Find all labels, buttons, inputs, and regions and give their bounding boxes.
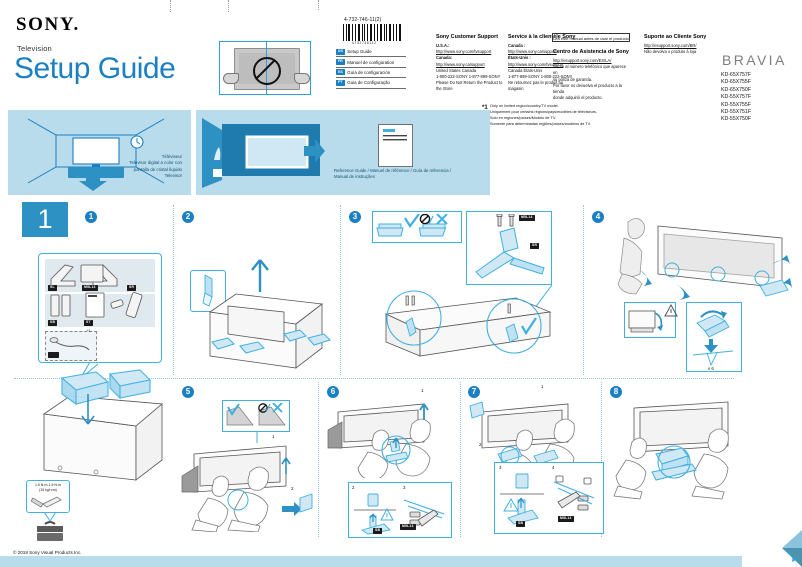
footnote-line: Somente para determinadas regiões/países… (490, 122, 597, 128)
substep-6: 6 (327, 386, 339, 398)
support-pt-title: Suporte ao Cliente Sony (644, 33, 716, 41)
parts-icons (45, 259, 155, 327)
model-number: KD-55X755F (721, 102, 751, 109)
leg-code-label-step3: SR (530, 243, 539, 249)
language-label: Guia de Configuração (347, 80, 390, 85)
optional-part-footnote-ref: *1 (87, 329, 90, 333)
model-number: KD-65X750F (721, 87, 751, 94)
support-es-line: donde adquirió el producto. (553, 95, 631, 101)
substep-4: 4 (592, 211, 604, 223)
substep3-tv-back-illustration (366, 270, 566, 370)
carton-open-illustration (36, 368, 166, 486)
part-code-cable (48, 352, 59, 358)
hand-right-icon (294, 73, 310, 84)
handling-caution-illustration (219, 41, 311, 95)
part-code-sr: SR (127, 285, 136, 291)
substep6-inner-num-1: 1 (421, 388, 423, 393)
support-us-title: Sony Customer Support (436, 33, 504, 41)
torque-value: 1.5 N·m-1.5 N·m (15 kgf·cm) (28, 483, 68, 492)
screwdriver-icon (31, 494, 65, 510)
substep2-carton-illustration (188, 250, 336, 375)
support-us-note: Please Do Not Return the Product to the … (436, 80, 504, 92)
language-label: Setup Guide (347, 49, 371, 54)
barcode-number: 4732746112 (352, 41, 377, 45)
support-pt: Suporte ao Cliente Sony http://esupport.… (644, 33, 716, 55)
substep3-check-graphics (375, 214, 459, 240)
support-us: Sony Customer Support U.S.A.: http://www… (436, 33, 504, 92)
divider-vertical-1 (173, 205, 174, 375)
model-number: KD-55X751F (721, 109, 751, 116)
sony-logo-dot: . (73, 14, 79, 35)
quantity-x6-label: x 6 (708, 366, 714, 371)
substep8-final-illustration (612, 398, 752, 508)
document-scene-illustration (202, 114, 320, 192)
substep5-check-graphics (225, 403, 287, 429)
reference-guide-booklet (378, 124, 414, 168)
substep4-leg-fold-detail (689, 305, 739, 369)
torque-callout-tail (42, 512, 58, 522)
barcode (343, 24, 403, 41)
model-number: KD-55X757F (721, 94, 751, 101)
support-es-line: Por favor no devuelva el producto a la t… (553, 83, 631, 95)
base-code-step6: SB (373, 528, 382, 534)
footnote-line: Uniquement pour certains régions/pays/mo… (490, 110, 597, 116)
substep-8: 8 (610, 386, 622, 398)
base-code-step7: SB (516, 521, 525, 527)
tv-caption: Téléviseur Televisor digital a color con… (56, 154, 182, 180)
language-row: US Setup Guide (336, 47, 406, 57)
substep-2: 2 (182, 211, 194, 223)
substep4-standing-tv-illustration (612, 212, 792, 307)
language-row: PT Guia de Configuração (336, 78, 406, 88)
support-pt-note: Não devolva o produto à loja (644, 49, 716, 55)
language-code: ES (336, 69, 345, 75)
divider-vertical-2 (340, 205, 341, 375)
language-code: PT (336, 80, 345, 86)
language-row: ES Guía de configuración (336, 68, 406, 78)
screw-code-step7: M5L14 (558, 516, 574, 522)
model-number: KD-55X750F (721, 116, 751, 123)
substep7-inner-num-2: 2 (479, 442, 481, 447)
part-code-sb: SB (48, 320, 57, 326)
substep-3: 3 (349, 211, 361, 223)
warning-triangle-step7 (503, 498, 519, 512)
language-code: FR (336, 59, 345, 65)
part-number: 4-732-746-11(2) (344, 17, 381, 23)
sony-logo: SONY. (16, 14, 80, 36)
support-es-line: Llame al número telefónico que aparece e… (553, 64, 631, 76)
footnote: *1 Only on limited region/country/TV mod… (490, 104, 597, 128)
language-list: US Setup Guide FR Manuel de configuratio… (336, 47, 406, 89)
crop-mark-top-left (170, 0, 171, 12)
sony-wordmark: SONY (16, 14, 73, 35)
model-number: KD-65X757F (721, 72, 751, 79)
right-arrow-docs (304, 138, 326, 164)
page-title: Setup Guide (14, 52, 175, 86)
substep-5: 5 (182, 386, 194, 398)
hand-left-icon (223, 73, 239, 84)
substep6-lifting-illustration (326, 398, 451, 478)
support-es: Centro de Asistencia de Sony http://esup… (553, 48, 631, 101)
model-list: KD-65X757F KD-65X755F KD-65X750F KD-55X7… (721, 72, 751, 124)
part-code-st: ST (84, 320, 93, 326)
divider-vertical-3 (583, 205, 584, 375)
reference-guide-caption: Reference Guide / Manuel de référence / … (334, 168, 484, 180)
no-touch-icon (253, 57, 281, 85)
step-number-badge: 1 (22, 202, 68, 237)
language-row: FR Manuel de configuration (336, 57, 406, 67)
screw-code-label-step3: M5L14 (519, 215, 535, 221)
screw-code-step6: M5L14 (400, 524, 416, 530)
substep6-inner-num-3: 3 (403, 485, 405, 490)
substep5-inner-num-1: 1 (272, 434, 274, 439)
substep7-inner-num-3: 3 (499, 465, 501, 470)
substep-1: 1 (85, 211, 97, 223)
setup-guide-page: SONY. Television Setup Guide 4-732-746-1… (0, 0, 802, 567)
copyright-text: © 2018 Sony Visual Products Inc. (13, 550, 81, 555)
language-code: US (336, 49, 345, 55)
part-code-sl: SL (48, 285, 57, 291)
substep7-inner-num-4: 4 (552, 465, 554, 470)
divider-vertical-5 (460, 382, 461, 537)
language-label: Manuel de configuration (347, 60, 394, 65)
crop-mark-top-right (318, 0, 319, 10)
toolbox-icon (36, 520, 64, 542)
substep-7: 7 (468, 386, 480, 398)
bottom-bar (0, 556, 802, 567)
part-code-m5l14: M5L14 (82, 285, 98, 291)
spanish-notice-box: Lea este manual antes de usar el product… (552, 33, 630, 42)
support-es-title: Centro de Asistencia de Sony (553, 48, 631, 56)
warning-triangle-step6 (380, 508, 394, 521)
model-number: KD-65X755F (721, 79, 751, 86)
cable-icon (49, 336, 91, 352)
language-label: Guía de configuración (347, 70, 390, 75)
warning-triangle-step4 (664, 304, 678, 317)
page-turn-corner (742, 530, 802, 567)
substep6-inner-num-2: 2 (352, 485, 354, 490)
crop-mark-top-mid (228, 0, 229, 12)
divider-vertical-4 (318, 382, 319, 537)
bravia-wordmark: BRAVIA (722, 52, 787, 68)
substep7-inner-num-1: 1 (541, 384, 543, 389)
substep5-inner-num-2: 2 (291, 486, 293, 491)
